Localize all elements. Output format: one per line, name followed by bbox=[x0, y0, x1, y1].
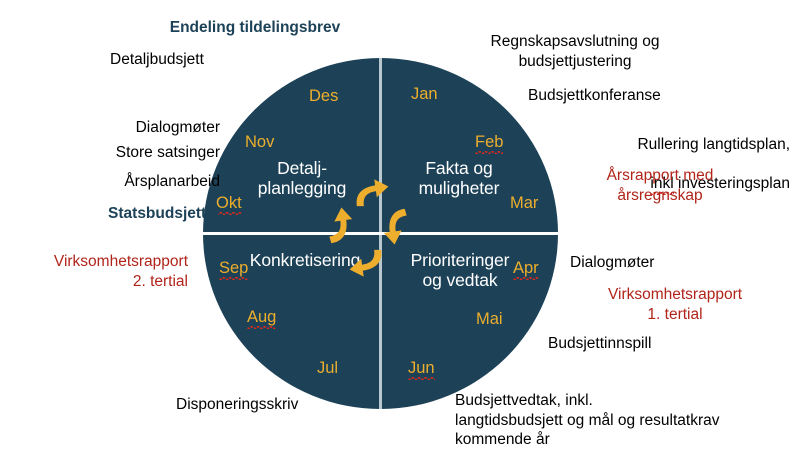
wheel-month-jan: Jan bbox=[411, 86, 438, 103]
wheel-phase-detaljplanlegging: Detalj- planlegging bbox=[241, 158, 363, 199]
annotation-budsjettvedtak: Budsjettvedtak, inkl. langtidsbudsjett o… bbox=[455, 391, 785, 450]
annotation-budsjettkonferanse: Budsjettkonferanse bbox=[528, 86, 758, 106]
wheel-month-apr: Apr bbox=[513, 260, 539, 279]
wheel-month-sep: Sep bbox=[219, 260, 248, 279]
wheel-month-jun: Jun bbox=[408, 360, 435, 379]
wheel-month-aug: Aug bbox=[247, 309, 276, 328]
annotation-virksomhetsrapport-1-tertial: Virksomhetsrapport 1. tertial bbox=[580, 285, 770, 324]
annotation-arsrapport-med-arsregnskap: Årsrapport med årsregnskap bbox=[565, 166, 755, 205]
wheel-month-mai: Mai bbox=[476, 311, 503, 328]
wheel-phase-fakta-og-muligheter: Fakta og muligheter bbox=[399, 158, 519, 199]
wheel-month-mar: Mar bbox=[510, 195, 538, 212]
arrow-down-icon bbox=[381, 206, 421, 246]
wheel-month-des: Des bbox=[309, 88, 338, 105]
wheel-month-jul: Jul bbox=[317, 360, 338, 377]
wheel-month-feb: Feb bbox=[475, 134, 503, 153]
annotation-dialogmoter-right: Dialogmøter bbox=[570, 253, 750, 273]
annual-cycle-wheel: Detalj- planlegging Fakta og muligheter … bbox=[203, 58, 558, 409]
annotation-store-satsinger: Store satsinger bbox=[40, 143, 220, 163]
slide-canvas: Detalj- planlegging Fakta og muligheter … bbox=[0, 0, 800, 461]
annotation-dialogmoter-left: Dialogmøter bbox=[50, 118, 220, 138]
annotation-detaljbudsjett: Detaljbudsjett bbox=[110, 50, 310, 70]
arrow-up-icon bbox=[315, 206, 355, 246]
annotation-disponeringsskriv: Disponeringsskriv bbox=[176, 395, 376, 415]
wheel-month-nov: Nov bbox=[245, 134, 274, 151]
rullering-line-1: Rullering langtidsplan, bbox=[637, 136, 790, 153]
wheel-phase-prioriteringer-og-vedtak: Prioriteringer og vedtak bbox=[399, 250, 521, 291]
annotation-arsplanarbeid: Årsplanarbeid bbox=[40, 172, 220, 192]
annotation-statsbudsjettet: Statsbudsjettet bbox=[20, 204, 220, 224]
annotation-virksomhetsrapport-2-tertial: Virksomhetsrapport 2. tertial bbox=[8, 252, 188, 291]
annotation-budsjettinnspill: Budsjettinnspill bbox=[548, 334, 738, 354]
annotation-regnskapsavslutning: Regnskapsavslutning og budsjettjustering bbox=[450, 32, 700, 71]
annotation-endelig-tildelingsbrev: Endeling tildelingsbrev bbox=[140, 18, 370, 38]
